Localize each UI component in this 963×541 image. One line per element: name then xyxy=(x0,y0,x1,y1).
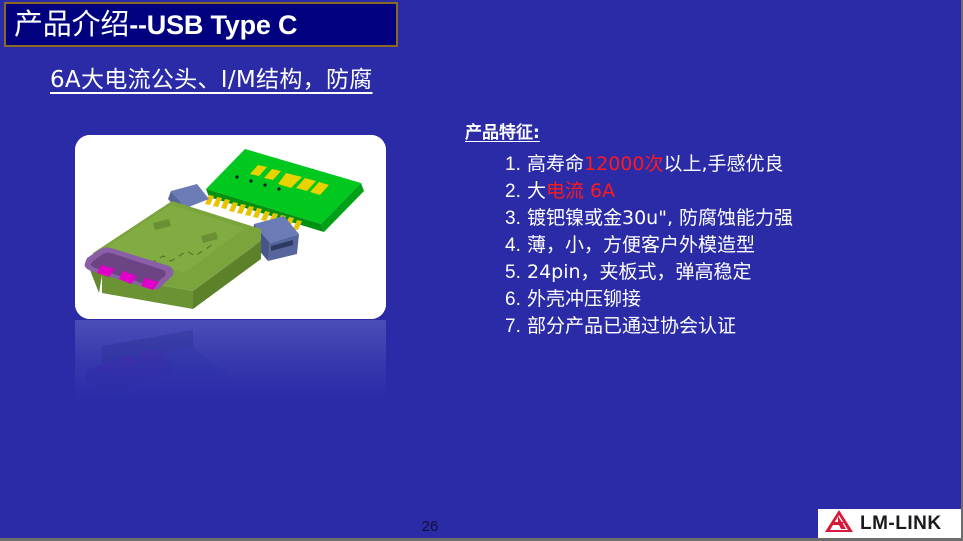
list-item-text-pre: 外壳冲压铆接 xyxy=(527,288,641,310)
list-item-text-pre: 大 xyxy=(527,180,546,202)
product-features-block: 产品特征: 1.高寿命12000次以上,手感优良 2.大电流 6A 3.镀钯镍或… xyxy=(465,118,885,340)
page-title-cn: 产品介绍 xyxy=(14,7,129,41)
page-title-en: --USB Type C xyxy=(129,10,297,40)
list-item-number: 5. xyxy=(505,260,527,286)
list-item: 6.外壳冲压铆接 xyxy=(505,286,885,313)
slide-title-box: 产品介绍--USB Type C xyxy=(4,2,398,47)
list-item-text-pre: 高寿命 xyxy=(527,153,584,175)
product-image-reflection xyxy=(75,320,386,420)
page-title: 产品介绍--USB Type C xyxy=(14,10,297,40)
list-item: 3.镀钯镍或金30u", 防腐蚀能力强 xyxy=(505,205,885,232)
lm-link-triangle-icon xyxy=(824,509,854,538)
list-item-number: 3. xyxy=(505,206,527,232)
list-item-text-pre: 镀钯镍或金30u", 防腐蚀能力强 xyxy=(527,207,793,229)
list-item-text-highlight: 电流 6A xyxy=(546,180,615,202)
slide: 产品介绍--USB Type C 6A大电流公头、I/M结构，防腐 xyxy=(0,0,963,541)
company-logo: LM-LINK xyxy=(818,509,963,538)
features-list: 1.高寿命12000次以上,手感优良 2.大电流 6A 3.镀钯镍或金30u",… xyxy=(465,151,885,340)
slide-subtitle: 6A大电流公头、I/M结构，防腐 xyxy=(50,60,373,94)
list-item-number: 1. xyxy=(505,152,527,178)
list-item-number: 4. xyxy=(505,233,527,259)
list-item-text-pre: 24pin，夹板式，弹高稳定 xyxy=(527,261,752,283)
list-item: 7.部分产品已通过协会认证 xyxy=(505,313,885,340)
features-heading: 产品特征: xyxy=(465,118,885,143)
list-item-number: 2. xyxy=(505,179,527,205)
list-item-text-post: 以上,手感优良 xyxy=(663,153,783,175)
list-item-text-pre: 部分产品已通过协会认证 xyxy=(527,315,736,337)
product-image-reflection-copy xyxy=(75,320,386,420)
list-item: 5.24pin，夹板式，弹高稳定 xyxy=(505,259,885,286)
list-item: 2.大电流 6A xyxy=(505,178,885,205)
list-item: 1.高寿命12000次以上,手感优良 xyxy=(505,151,885,178)
list-item-number: 6. xyxy=(505,287,527,313)
usb-type-c-connector-image xyxy=(75,135,386,319)
list-item-number: 7. xyxy=(505,314,527,340)
list-item-text-highlight: 12000次 xyxy=(584,153,663,175)
reflection-fade-mask xyxy=(75,320,386,420)
page-number: 26 xyxy=(0,518,860,535)
logo-text: LM-LINK xyxy=(860,513,942,535)
list-item-text-pre: 薄，小，方便客户外模造型 xyxy=(527,234,755,256)
list-item: 4.薄，小，方便客户外模造型 xyxy=(505,232,885,259)
product-image-panel xyxy=(75,135,386,319)
